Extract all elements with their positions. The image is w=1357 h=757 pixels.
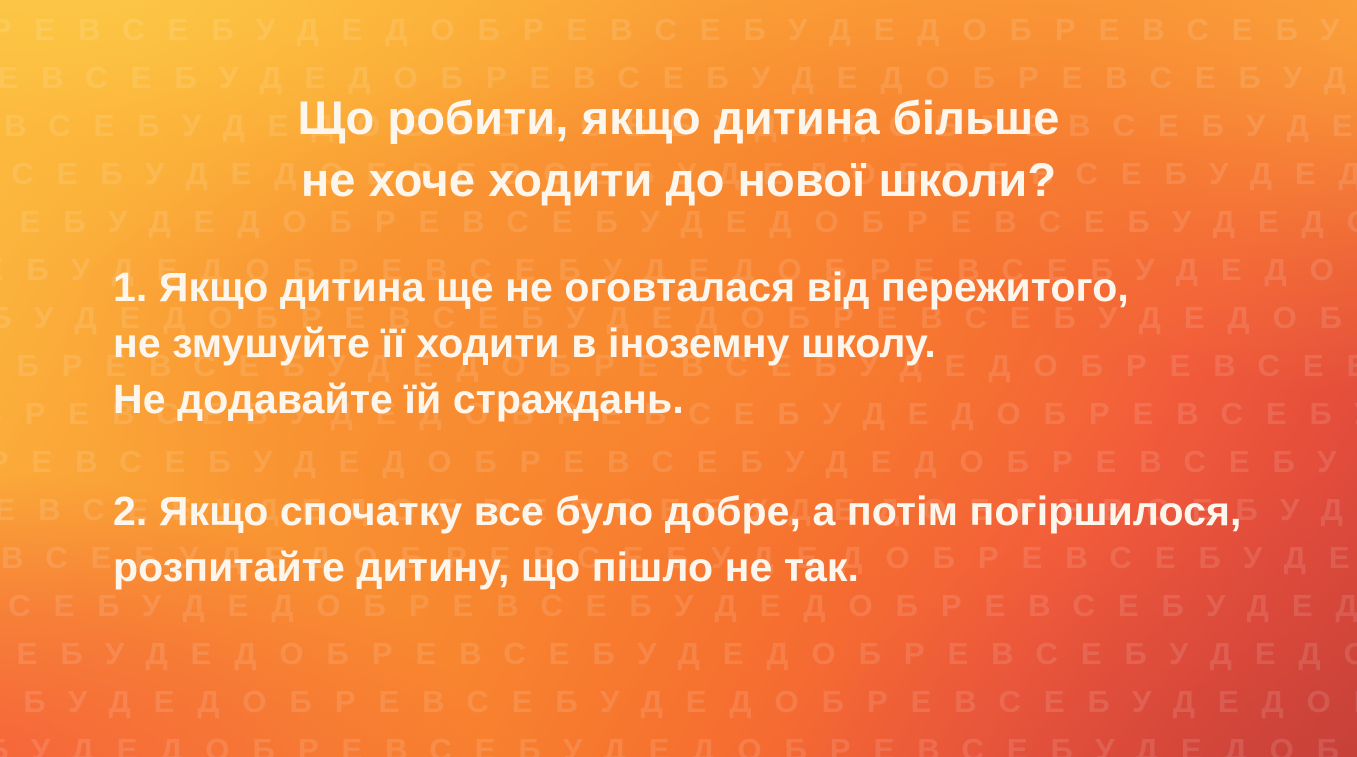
slide-title: Що робити, якщо дитина більшене хоче ход… [0, 87, 1357, 211]
paragraph-spacer [113, 427, 1293, 483]
body-paragraph-line: 1. Якщо дитина ще не оговталася від пере… [113, 259, 1293, 315]
body-paragraph: 1. Якщо дитина ще не оговталася від пере… [113, 259, 1293, 427]
body-paragraph-line: не змушуйте її ходити в іноземну школу. [113, 315, 1293, 371]
body-paragraph: 2. Якщо спочатку все було добре, а потім… [113, 483, 1293, 595]
body-paragraph-line: 2. Якщо спочатку все було добре, а потім… [113, 483, 1293, 539]
slide-title-line: не хоче ходити до нової школи? [0, 149, 1357, 211]
body-paragraph-line: розпитайте дитину, що пішло не так. [113, 539, 1293, 595]
presentation-slide: ВСЕБУДЕДОБРЕВСЕБУДЕДОБРЕВСЕБУДЕДОБРЕВСЕБ… [0, 0, 1357, 757]
slide-body-text: 1. Якщо дитина ще не оговталася від пере… [113, 259, 1293, 595]
slide-title-line: Що робити, якщо дитина більше [0, 87, 1357, 149]
slide-content: Що робити, якщо дитина більшене хоче ход… [0, 0, 1357, 757]
body-paragraph-line: Не додавайте їй страждань. [113, 371, 1293, 427]
